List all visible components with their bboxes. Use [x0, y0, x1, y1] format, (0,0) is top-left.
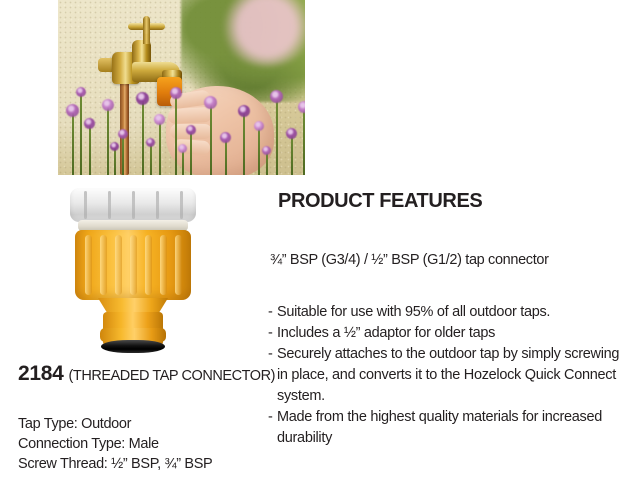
product-barrel-rib	[100, 235, 107, 295]
product-image	[70, 188, 196, 360]
feature-item: - Made from the highest quality material…	[268, 407, 628, 449]
photo-flower-stem	[122, 135, 124, 175]
bullet-marker: -	[268, 323, 277, 344]
photo-flower-stem	[190, 131, 192, 175]
feature-text: Made from the highest quality materials …	[277, 407, 628, 449]
product-sku-line: 2184(THREADED TAP CONNECTOR)	[18, 362, 275, 386]
spec-connection-type: Connection Type: Male	[18, 434, 212, 454]
photo-flower-bloom	[146, 138, 155, 147]
photo-flower-bloom	[204, 96, 217, 109]
photo-flower-bloom	[262, 146, 271, 155]
photo-flower-bloom	[76, 87, 86, 97]
bullet-marker: -	[268, 407, 277, 428]
photo-flower-stem	[142, 101, 144, 175]
photo-flower-bloom	[270, 90, 283, 103]
photo-flower-bloom	[66, 104, 79, 117]
photo-flower-bloom	[186, 125, 196, 135]
photo-flower-stem	[210, 105, 212, 175]
product-o-ring	[101, 340, 165, 353]
spec-tap-type: Tap Type: Outdoor	[18, 414, 212, 434]
product-barrel-rib	[145, 235, 152, 295]
product-barrel-rib	[160, 235, 167, 295]
photo-flower-stem	[258, 127, 260, 175]
product-barrel-rib	[175, 235, 182, 295]
product-barrel-rib	[115, 235, 122, 295]
lifestyle-photo	[58, 0, 305, 175]
product-collar-rib	[156, 191, 159, 219]
photo-flower-bloom	[220, 132, 231, 143]
photo-tap-handle-crossbar-vertical	[143, 16, 150, 34]
product-barrel-rib	[130, 235, 137, 295]
photo-flower-stem	[243, 113, 245, 175]
photo-flower-bloom	[118, 129, 128, 139]
photo-flower-stem	[80, 93, 82, 175]
photo-flower-stem	[291, 135, 293, 175]
photo-flower-bloom	[136, 92, 149, 105]
bullet-marker: -	[268, 344, 277, 365]
photo-flower-stem	[276, 99, 278, 175]
photo-flower-bloom	[110, 142, 119, 151]
photo-flower-bloom	[254, 121, 264, 131]
product-barrel-rib	[85, 235, 92, 295]
bullet-marker: -	[268, 302, 277, 323]
product-barrel	[75, 230, 191, 300]
photo-flower-stem	[107, 107, 109, 175]
product-features-heading: PRODUCT FEATURES	[278, 190, 482, 213]
photo-flower-stem	[159, 121, 161, 175]
product-collar-rib	[108, 191, 111, 219]
product-collar	[70, 188, 196, 222]
photo-flower-stem	[114, 147, 116, 175]
feature-item: - Securely attaches to the outdoor tap b…	[268, 344, 628, 407]
photo-flower-bloom	[238, 105, 250, 117]
feature-item: - Suitable for use with 95% of all outdo…	[268, 302, 628, 323]
feature-text: Securely attaches to the outdoor tap by …	[277, 344, 628, 407]
feature-text: Includes a ½” adaptor for older taps	[277, 323, 628, 344]
photo-flower-bloom	[154, 114, 165, 125]
spec-screw-thread: Screw Thread: ½” BSP, ¾” BSP	[18, 454, 212, 474]
product-collar-rib	[84, 191, 87, 219]
product-specs: Tap Type: Outdoor Connection Type: Male …	[18, 414, 212, 474]
photo-flower-stem	[150, 143, 152, 175]
photo-flower-bloom	[178, 144, 187, 153]
photo-flower-stem	[175, 95, 177, 175]
feature-text: Suitable for use with 95% of all outdoor…	[277, 302, 628, 323]
product-collar-rib	[180, 191, 183, 219]
feature-item: - Includes a ½” adaptor for older taps	[268, 323, 628, 344]
photo-flower-stem	[225, 139, 227, 175]
photo-flower-field	[58, 89, 305, 175]
photo-flower-bloom	[298, 101, 305, 113]
photo-flower-bloom	[84, 118, 95, 129]
product-collar-rib	[132, 191, 135, 219]
photo-flower-stem	[72, 113, 74, 175]
product-features-subtitle: ¾” BSP (G3/4) / ½” BSP (G1/2) tap connec…	[270, 252, 549, 268]
photo-flower-bloom	[286, 128, 297, 139]
product-sku: 2184	[18, 362, 64, 385]
photo-flower-bloom	[102, 99, 114, 111]
photo-flower-bloom	[170, 87, 182, 99]
product-features-list: - Suitable for use with 95% of all outdo…	[268, 302, 628, 449]
photo-flower-stem	[89, 125, 91, 175]
photo-flower-stem	[303, 109, 305, 175]
product-sku-description: (THREADED TAP CONNECTOR)	[69, 368, 275, 384]
